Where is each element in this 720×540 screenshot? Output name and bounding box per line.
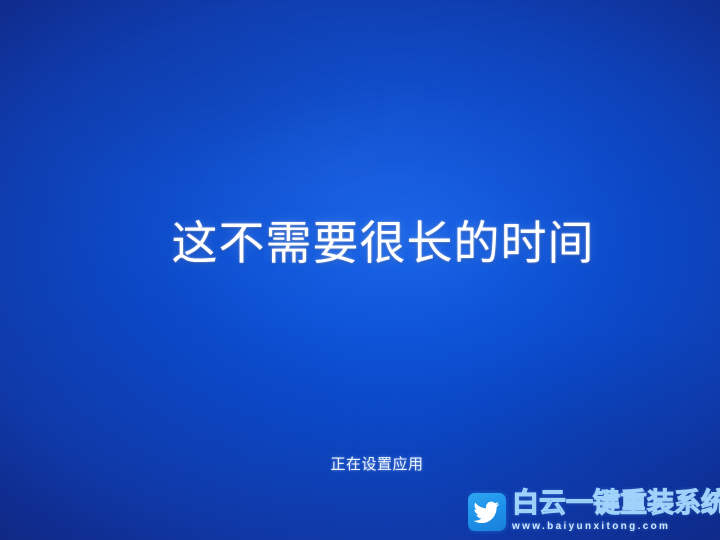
brand-watermark: 白云一键重装系统 www.baiyunxitong.com (468, 487, 720, 540)
setup-headline: 这不需要很长的时间 (0, 214, 720, 272)
brand-url: www.baiyunxitong.com (512, 520, 720, 533)
brand-name: 白云一键重装系统 (512, 488, 720, 519)
oobe-setup-screen: 这不需要很长的时间 正在设置应用 白云一键重装系统 www.baiyunxito… (0, 0, 720, 540)
bird-icon (468, 493, 506, 531)
setup-status-text: 正在设置应用 (0, 455, 720, 475)
brand-watermark-text: 白云一键重装系统 www.baiyunxitong.com (512, 487, 720, 533)
